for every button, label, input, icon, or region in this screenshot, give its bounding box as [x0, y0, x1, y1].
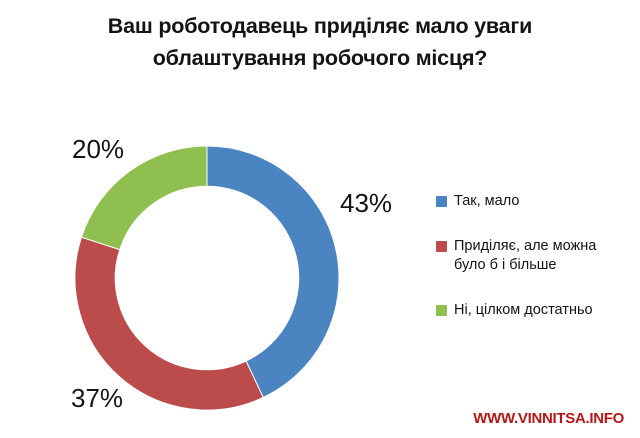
legend-label-2: Ні, цілком достатньо	[454, 301, 593, 320]
data-label-red: 37%	[71, 385, 123, 411]
chart-canvas: Ваш роботодавець приділяє мало уваги обл…	[0, 0, 640, 438]
legend-item-2[interactable]: Ні, цілком достатньо	[436, 301, 636, 320]
legend-label-0: Так, мало	[454, 192, 519, 211]
page-title: Ваш роботодавець приділяє мало уваги обл…	[30, 10, 610, 74]
donut-slice-group	[75, 146, 339, 410]
page-title-line-1: Ваш роботодавець приділяє мало уваги	[30, 10, 610, 42]
legend-swatch-red-icon	[436, 241, 447, 252]
donut-slice[interactable]	[207, 146, 339, 397]
legend-item-1[interactable]: Приділяє, але можна було б і більше	[436, 237, 636, 275]
donut-chart	[75, 146, 339, 410]
site-watermark: WWW.VINNITSA.INFO	[473, 410, 624, 427]
legend-item-0[interactable]: Так, мало	[436, 192, 636, 211]
legend-swatch-blue-icon	[436, 196, 447, 207]
data-label-green: 20%	[72, 136, 124, 162]
page-title-line-2: облаштування робочого місця?	[30, 42, 610, 74]
legend-label-1: Приділяє, але можна було б і більше	[454, 237, 629, 275]
data-label-blue: 43%	[340, 190, 392, 216]
legend-swatch-green-icon	[436, 305, 447, 316]
donut-chart-svg	[75, 146, 339, 410]
chart-legend: Так, мало Приділяє, але можна було б і б…	[436, 192, 636, 320]
